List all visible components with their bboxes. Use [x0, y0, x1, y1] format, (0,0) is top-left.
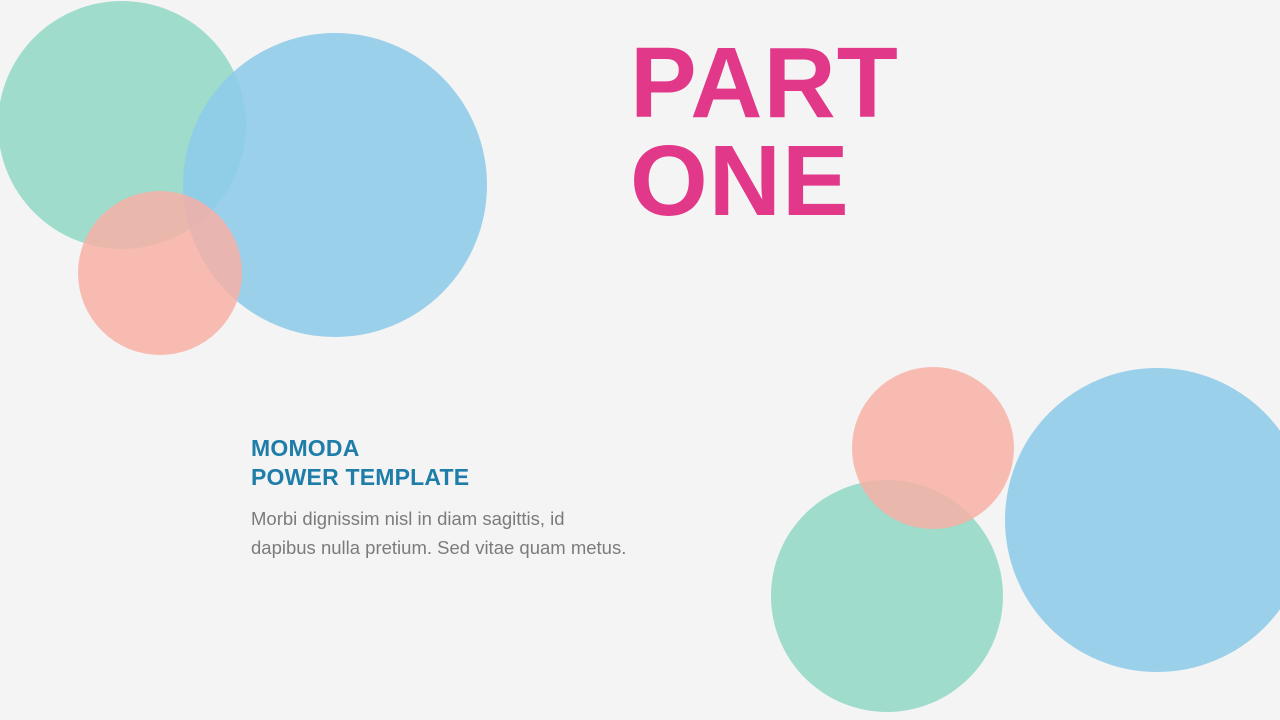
blue-circle [1005, 368, 1280, 672]
green-circle [0, 1, 246, 249]
green-circle [771, 480, 1003, 712]
decorative-circle-cluster-bottom-right [740, 355, 1280, 720]
pink-circle [78, 191, 242, 355]
decorative-circle-cluster-top-left [0, 0, 500, 370]
blue-circle [183, 33, 487, 337]
subtitle-line-1: MOMODA [251, 434, 721, 463]
section-heading: PART ONE [630, 34, 1150, 230]
slide-canvas: PART ONE MOMODA POWER TEMPLATE Morbi dig… [0, 0, 1280, 720]
subtitle-line-2: POWER TEMPLATE [251, 463, 721, 492]
text-block: MOMODA POWER TEMPLATE Morbi dignissim ni… [251, 434, 721, 562]
pink-circle [852, 367, 1014, 529]
body-paragraph: Morbi dignissim nisl in diam sagittis, i… [251, 505, 721, 562]
